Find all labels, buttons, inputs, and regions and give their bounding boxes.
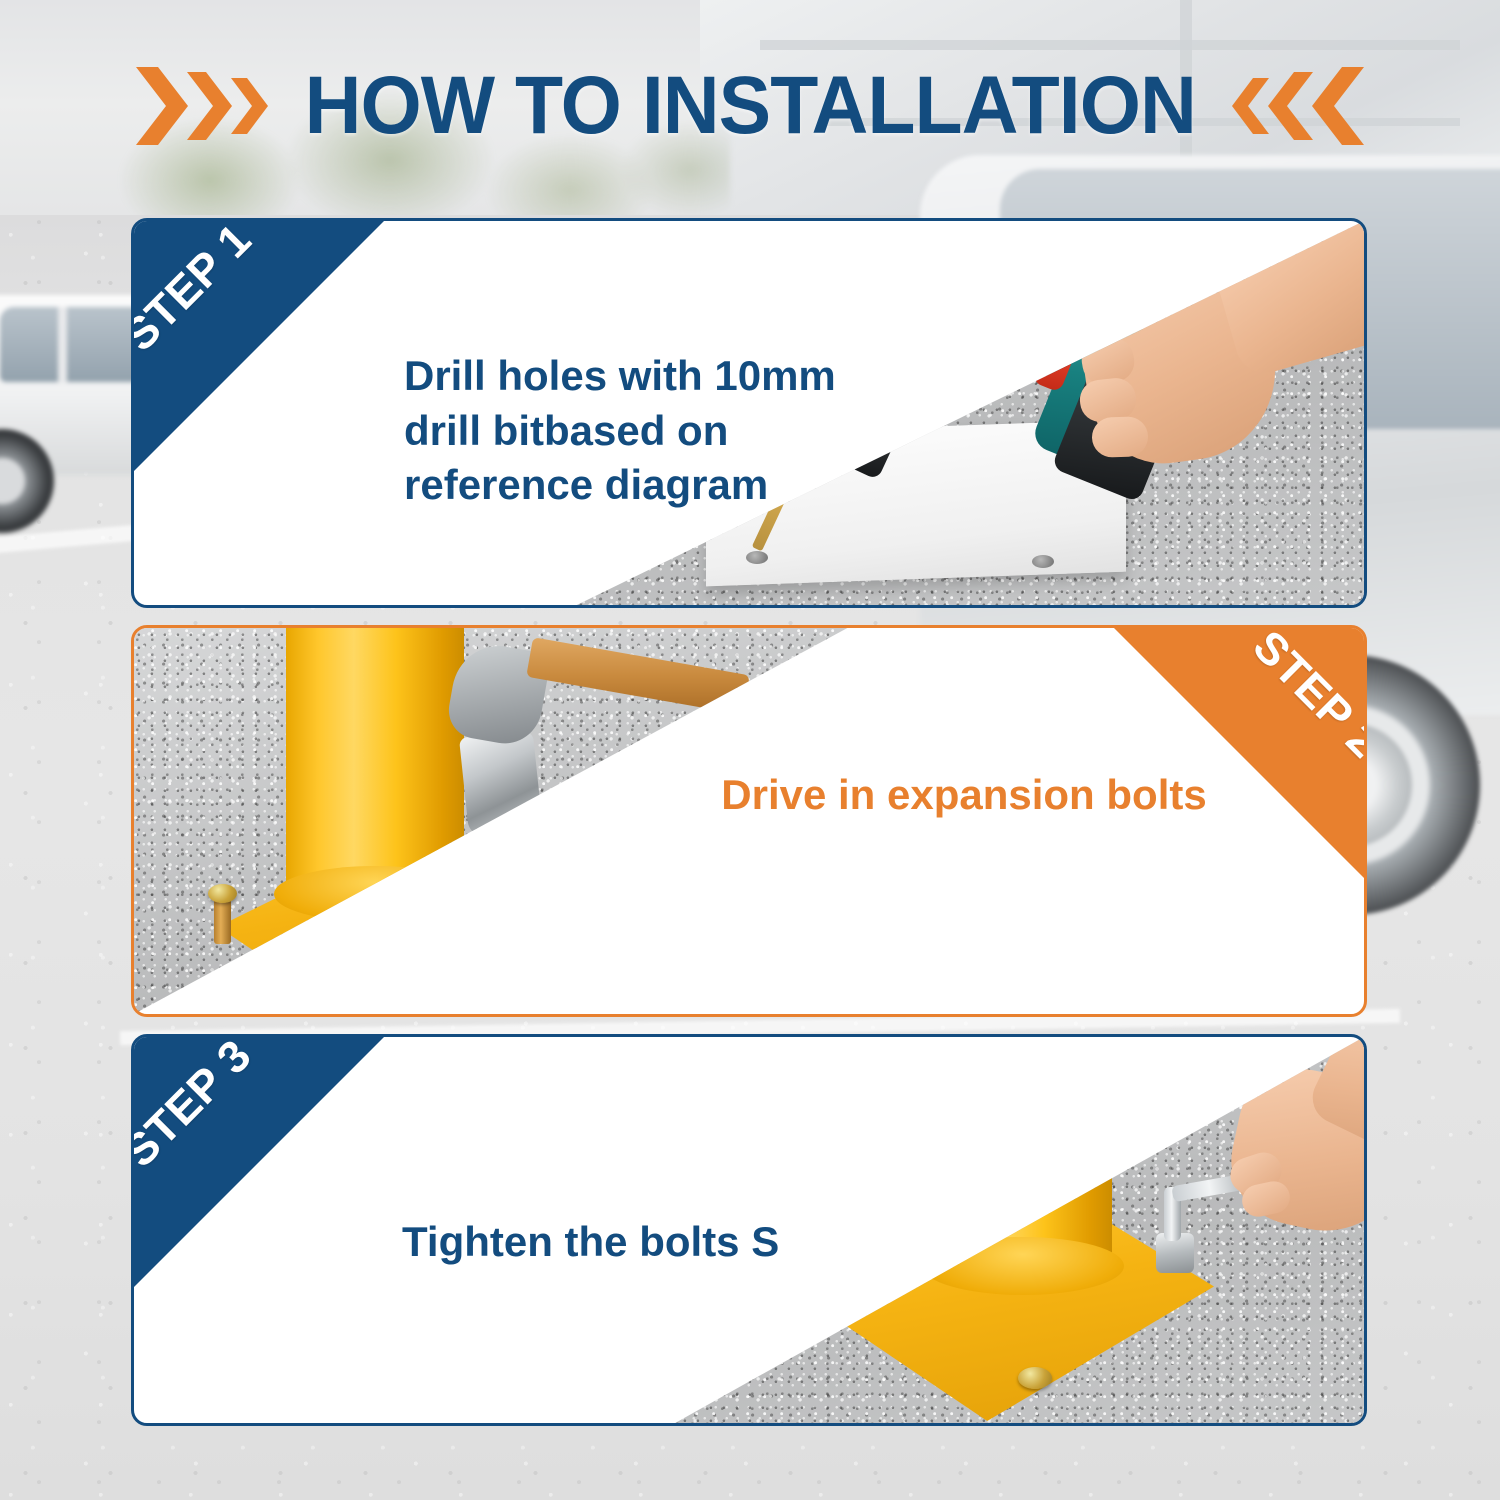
expansion-bolt-head bbox=[208, 884, 237, 903]
drilled-hole bbox=[746, 551, 768, 564]
finger bbox=[1091, 416, 1148, 458]
tightened-bolt bbox=[1018, 1367, 1052, 1389]
yellow-bollard-post bbox=[286, 628, 464, 898]
page-title: HOW TO INSTALLATION bbox=[304, 59, 1195, 153]
step-panel-2: STEP 2 Drive in expansion bolts bbox=[131, 625, 1367, 1017]
step-1-instruction: Drill holes with 10mm drill bitbased on … bbox=[404, 349, 924, 513]
step-panel-1: STEP 1 Drill holes with 10mm drill bitba… bbox=[131, 218, 1367, 608]
chevrons-right-icon bbox=[132, 63, 268, 149]
step-panel-3: STEP 3 Tighten the bolts S bbox=[131, 1034, 1367, 1426]
bollard-foot-weld bbox=[274, 866, 476, 922]
step-3-badge: STEP 3 bbox=[134, 1037, 384, 1287]
hammer-head bbox=[459, 730, 543, 837]
step-3-instruction: Tighten the bolts S bbox=[402, 1215, 962, 1270]
step-1-badge-label: STEP 1 bbox=[131, 218, 262, 361]
step-3-badge-label: STEP 3 bbox=[131, 1034, 262, 1177]
step-1-badge: STEP 1 bbox=[134, 221, 384, 471]
step-2-badge-label: STEP 2 bbox=[1242, 625, 1367, 768]
step-2-instruction: Drive in expansion bolts bbox=[684, 768, 1244, 823]
title-bar: HOW TO INSTALLATION bbox=[0, 52, 1500, 160]
step-2-badge: STEP 2 bbox=[1114, 628, 1364, 878]
building-line bbox=[760, 40, 1460, 50]
expansion-bolt-head bbox=[484, 828, 513, 847]
drilled-hole bbox=[1032, 555, 1054, 568]
expansion-bolt-shaft bbox=[490, 842, 507, 894]
base-plate-hole bbox=[416, 976, 434, 987]
expansion-bolt-shaft bbox=[214, 896, 231, 944]
drill-speed-switch bbox=[966, 245, 1021, 296]
chevrons-left-icon bbox=[1232, 63, 1368, 149]
